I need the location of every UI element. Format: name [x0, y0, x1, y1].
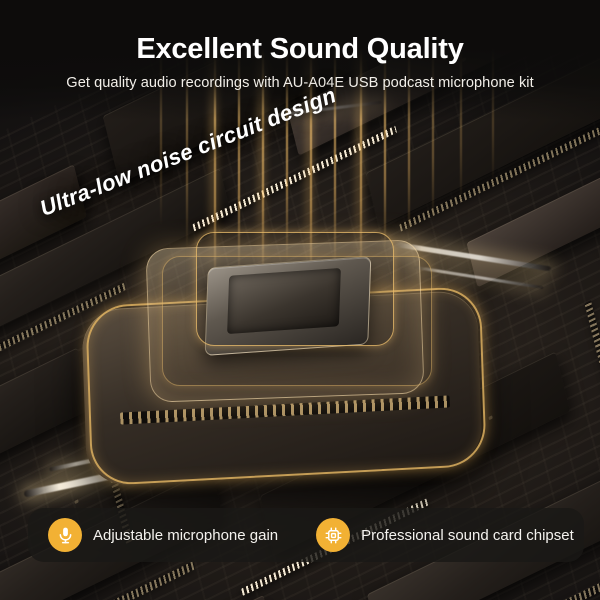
glow-wireframe	[162, 256, 432, 386]
page-subtitle: Get quality audio recordings with AU-A04…	[0, 75, 600, 91]
page-title: Excellent Sound Quality	[0, 33, 600, 66]
feature-label: Professional sound card chipset	[361, 527, 574, 544]
feature-item-sound-card-chipset: Professional sound card chipset	[316, 508, 574, 562]
product-banner: Excellent Sound Quality Get quality audi…	[0, 0, 600, 600]
feature-bar: Adjustable microphone gain Professional …	[28, 508, 584, 562]
microphone-icon	[48, 518, 82, 552]
feature-label: Adjustable microphone gain	[93, 527, 278, 544]
chip-icon	[316, 518, 350, 552]
feature-item-microphone-gain: Adjustable microphone gain	[48, 508, 278, 562]
